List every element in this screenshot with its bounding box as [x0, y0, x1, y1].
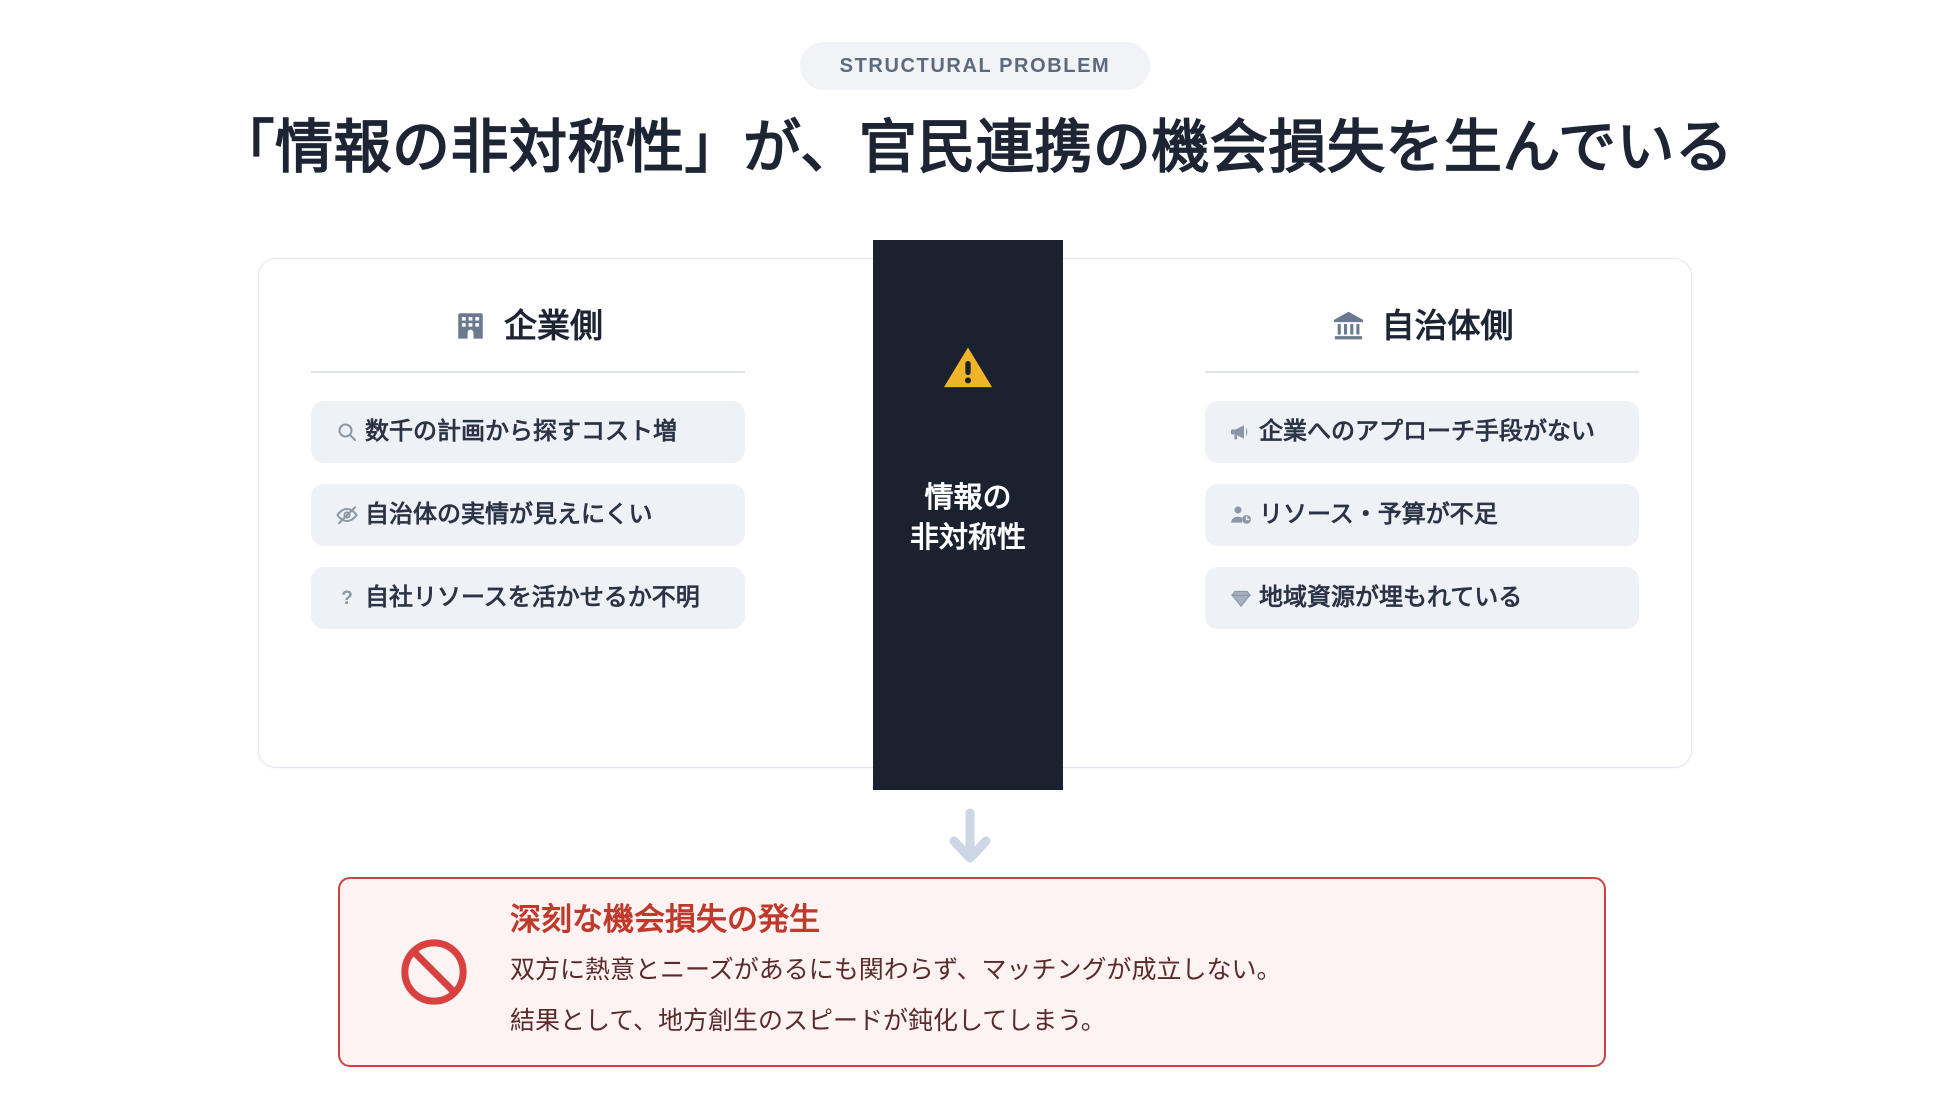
arrow-down-icon — [946, 808, 994, 866]
office-building-icon — [453, 308, 488, 343]
gem-icon — [1229, 586, 1253, 610]
person-clock-icon — [1229, 503, 1253, 527]
list-item[interactable]: ? 自社リソースを活かせるか不明 — [311, 567, 745, 629]
center-asymmetry-panel: 情報の 非対称性 — [873, 240, 1063, 790]
column-company-items: 数千の計画から探すコスト増 自治体の実情が見えにくい — [311, 401, 745, 629]
column-company-header: 企業側 — [311, 299, 745, 351]
list-item-label: 自治体の実情が見えにくい — [365, 503, 653, 527]
list-item-label: リソース・予算が不足 — [1259, 503, 1498, 527]
alert-line-2: 結果として、地方創生のスピードが鈍化してしまう。 — [510, 1003, 1282, 1041]
search-icon — [335, 420, 359, 444]
list-item[interactable]: 企業へのアプローチ手段がない — [1205, 401, 1639, 463]
column-company-divider — [311, 371, 745, 373]
alert-line-1: 双方に熱意とニーズがあるにも関わらず、マッチングが成立しない。 — [510, 952, 1282, 990]
prohibition-icon — [396, 934, 472, 1010]
list-item[interactable]: 数千の計画から探すコスト増 — [311, 401, 745, 463]
alert-title: 深刻な機会損失の発生 — [510, 903, 1282, 937]
column-municipality-items: 企業へのアプローチ手段がない リソース・予算が不足 — [1205, 401, 1639, 629]
list-item-label: 自社リソースを活かせるか不明 — [365, 586, 700, 610]
center-panel-line1: 情報の — [910, 478, 1026, 518]
column-municipality-divider — [1205, 371, 1639, 373]
center-panel-line2: 非対称性 — [910, 518, 1026, 558]
eye-off-icon — [335, 503, 359, 527]
list-item-label: 企業へのアプローチ手段がない — [1259, 420, 1595, 444]
column-municipality-header: 自治体側 — [1205, 299, 1639, 351]
column-company: 企業側 数千の計画から探すコスト増 — [259, 259, 975, 767]
slide-root: STRUCTURAL PROBLEM 「情報の非対称性」が、官民連携の機会損失を… — [0, 0, 1950, 1095]
column-municipality: 自治体側 企業へのアプローチ手段がない — [975, 259, 1691, 767]
list-item[interactable]: 地域資源が埋もれている — [1205, 567, 1639, 629]
section-badge: STRUCTURAL PROBLEM — [800, 42, 1151, 90]
opportunity-loss-alert: 深刻な機会損失の発生 双方に熱意とニーズがあるにも関わらず、マッチングが成立しな… — [338, 877, 1606, 1067]
list-item[interactable]: 自治体の実情が見えにくい — [311, 484, 745, 546]
list-item-label: 地域資源が埋もれている — [1259, 586, 1522, 610]
svg-text:?: ? — [341, 588, 353, 609]
list-item-label: 数千の計画から探すコスト増 — [365, 420, 677, 444]
page-title: 「情報の非対称性」が、官民連携の機会損失を生んでいる — [0, 112, 1950, 185]
center-panel-text: 情報の 非対称性 — [910, 478, 1026, 558]
warning-triangle-icon — [940, 340, 996, 396]
government-building-icon — [1331, 308, 1366, 343]
column-company-title: 企業側 — [504, 309, 603, 342]
alert-body: 深刻な機会損失の発生 双方に熱意とニーズがあるにも関わらず、マッチングが成立しな… — [510, 903, 1282, 1040]
column-municipality-title: 自治体側 — [1382, 309, 1514, 342]
question-mark-icon: ? — [335, 586, 359, 610]
megaphone-icon — [1229, 420, 1253, 444]
list-item[interactable]: リソース・予算が不足 — [1205, 484, 1639, 546]
badge-row: STRUCTURAL PROBLEM — [0, 42, 1950, 90]
